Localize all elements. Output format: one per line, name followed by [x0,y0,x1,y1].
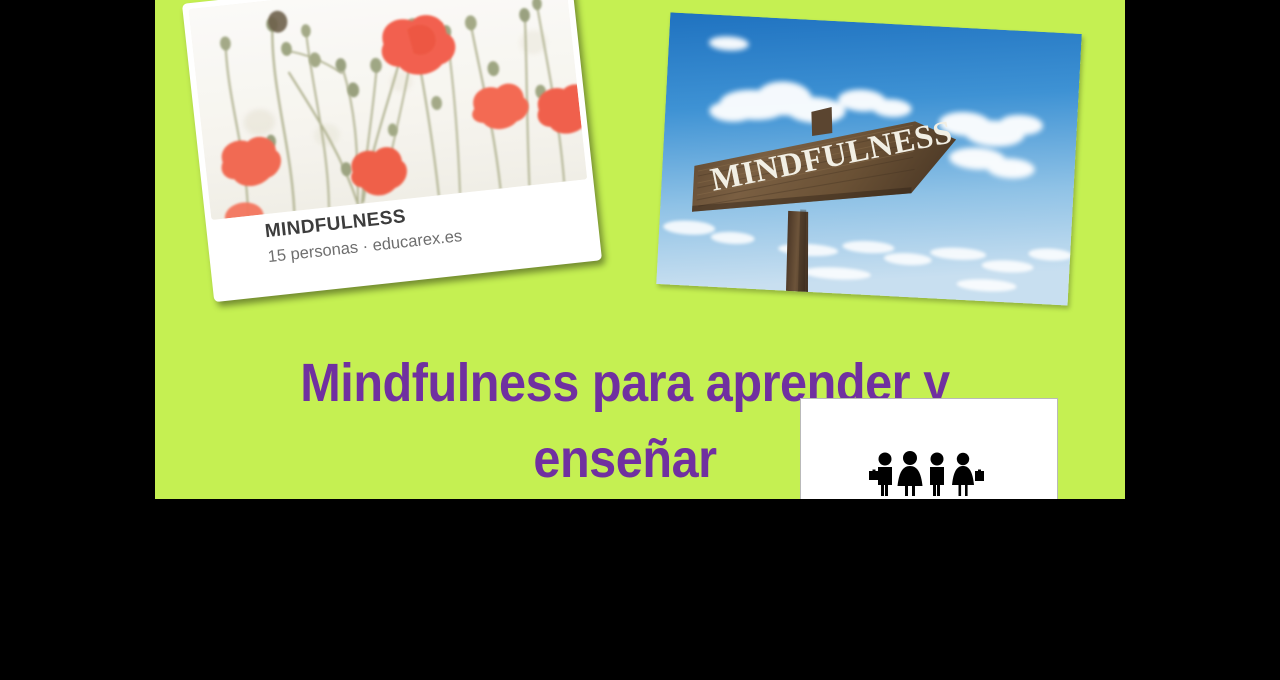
screen-canvas: MINDFULNESS 15 personas · educarex.es [0,0,1280,680]
presentation-slide: MINDFULNESS 15 personas · educarex.es [155,0,1125,499]
four-people-group-icon [801,451,1057,497]
poppy-pin-card[interactable]: MINDFULNESS 15 personas · educarex.es [182,0,602,302]
mindfulness-signpost-photo[interactable]: MINDFULNESS [656,12,1082,305]
author-logo-box[interactable]: Suárez Sarmento [800,398,1058,499]
